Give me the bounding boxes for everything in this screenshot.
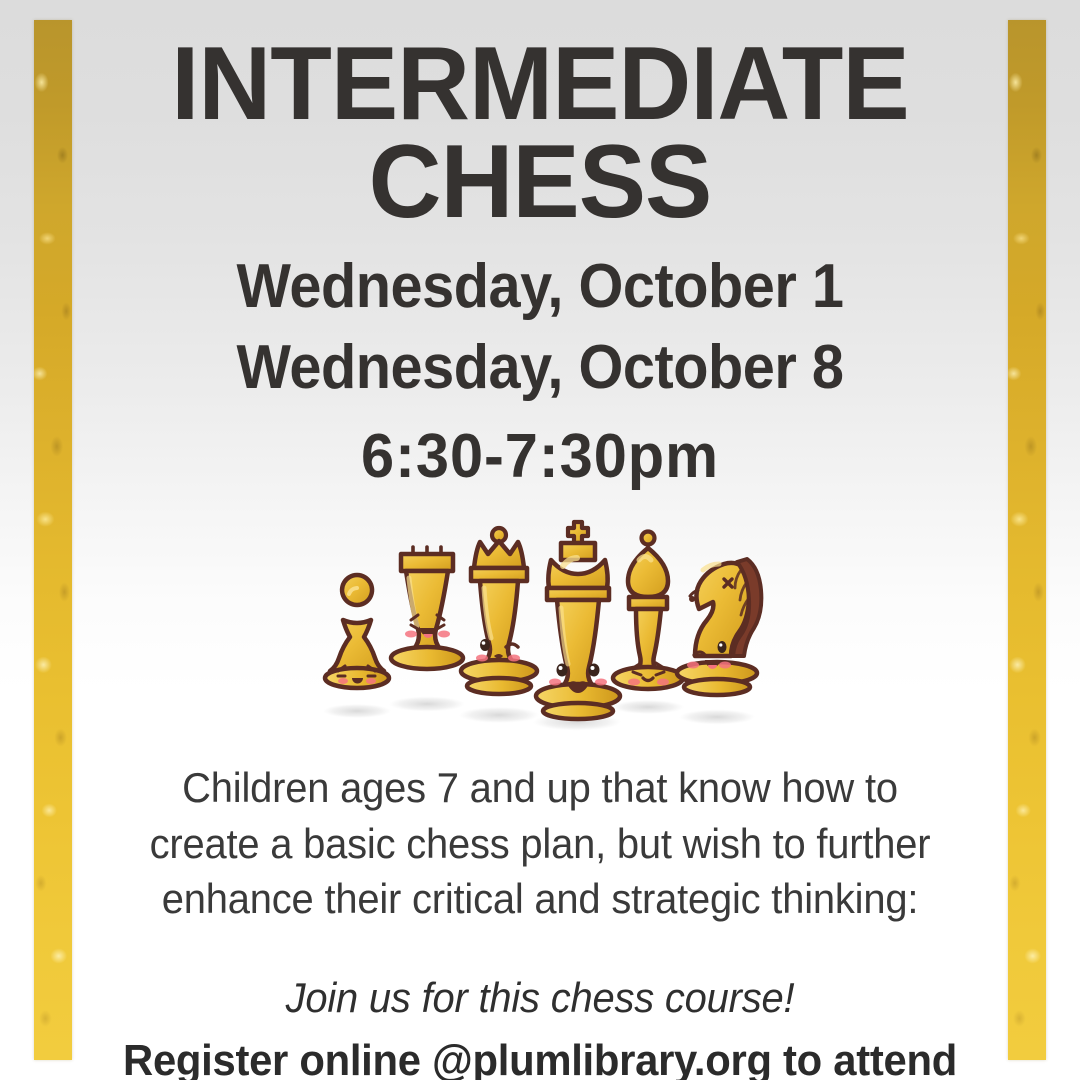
chess-pieces-illustration	[305, 508, 775, 738]
event-time: 6:30-7:30pm	[108, 421, 972, 492]
rook-piece	[391, 547, 463, 669]
registration-text: Register online @plumlibrary.org to atte…	[113, 1036, 968, 1080]
event-date-1: Wednesday, October 1	[122, 246, 959, 328]
invitation-text: Join us for this chess course!	[113, 974, 968, 1022]
page-title: INTERMEDIATE CHESS	[104, 0, 977, 232]
king-piece	[536, 522, 620, 719]
description-text: Children ages 7 and up that know how to …	[146, 760, 935, 926]
headline-line-2: CHESS	[104, 134, 977, 232]
chess-program-flyer: INTERMEDIATE CHESS Wednesday, October 1 …	[0, 0, 1080, 1080]
gold-border-bar-right	[1008, 20, 1046, 1060]
event-date-2: Wednesday, October 8	[122, 327, 959, 409]
pawn-piece	[325, 575, 389, 688]
description-line-1: Children ages 7 and up that know how to	[146, 760, 935, 815]
queen-piece	[461, 528, 537, 694]
description-line-2: create a basic chess plan, but wish to f…	[146, 816, 935, 871]
flyer-content: INTERMEDIATE CHESS Wednesday, October 1 …	[90, 0, 990, 1080]
event-dates: Wednesday, October 1 Wednesday, October …	[90, 246, 990, 410]
knight-piece	[677, 559, 761, 695]
gold-border-bar-left	[34, 20, 72, 1060]
bishop-piece	[613, 532, 683, 690]
description-line-3: enhance their critical and strategic thi…	[146, 871, 935, 926]
